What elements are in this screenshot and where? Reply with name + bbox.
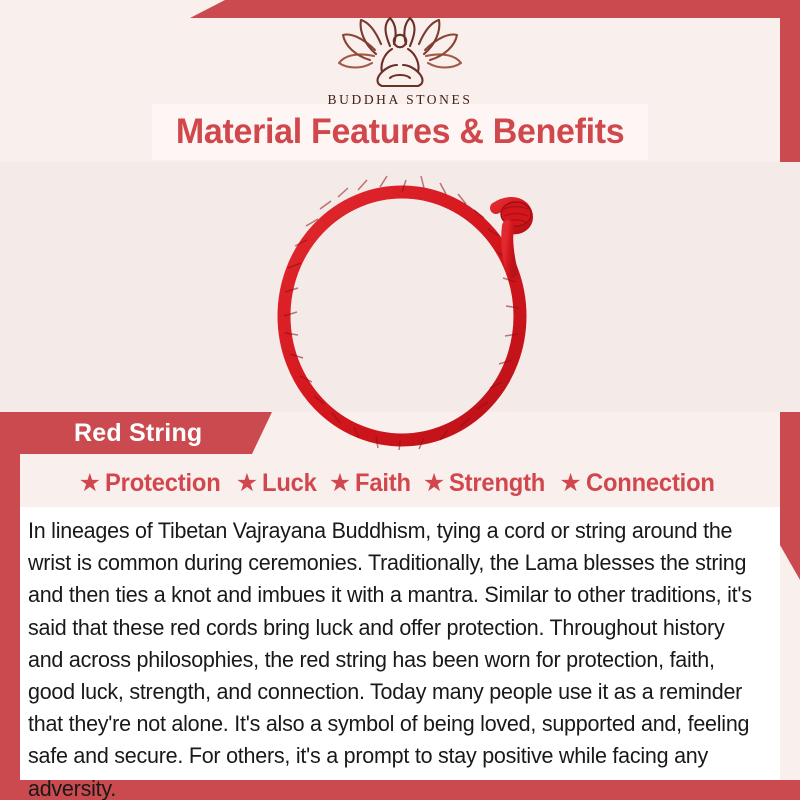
product-image-red-string-bracelet <box>250 168 570 450</box>
title-banner: Material Features & Benefits <box>152 104 648 160</box>
benefit-label: Faith <box>355 469 411 498</box>
infographic-canvas: BUDDHA STONES Material Features & Benefi… <box>0 0 800 800</box>
benefit-item-connection: ★ Connection <box>559 469 721 498</box>
description-panel: In lineages of Tibetan Vajrayana Buddhis… <box>20 507 780 780</box>
material-name: Red String <box>74 419 202 448</box>
page-title: Material Features & Benefits <box>176 112 624 152</box>
benefits-list: ★ Protection ★ Luck ★ Faith ★ Strength ★… <box>0 463 800 503</box>
brand-logo: BUDDHA STONES <box>0 16 800 108</box>
benefit-item-protection: ★ Protection <box>79 469 227 498</box>
material-ribbon: Red String <box>20 412 272 454</box>
benefit-item-luck: ★ Luck <box>236 469 320 498</box>
benefit-label: Luck <box>262 469 317 498</box>
star-icon: ★ <box>423 471 445 496</box>
benefit-item-faith: ★ Faith <box>329 469 414 498</box>
star-icon: ★ <box>79 471 101 496</box>
lotus-meditation-logo-icon <box>334 16 466 90</box>
star-icon: ★ <box>236 471 258 496</box>
benefit-label: Protection <box>105 469 221 498</box>
star-icon: ★ <box>329 471 351 496</box>
benefit-item-strength: ★ Strength <box>423 469 551 498</box>
description-text: In lineages of Tibetan Vajrayana Buddhis… <box>28 515 757 800</box>
star-icon: ★ <box>559 471 581 496</box>
benefit-label: Connection <box>586 469 715 498</box>
benefit-label: Strength <box>449 469 545 498</box>
